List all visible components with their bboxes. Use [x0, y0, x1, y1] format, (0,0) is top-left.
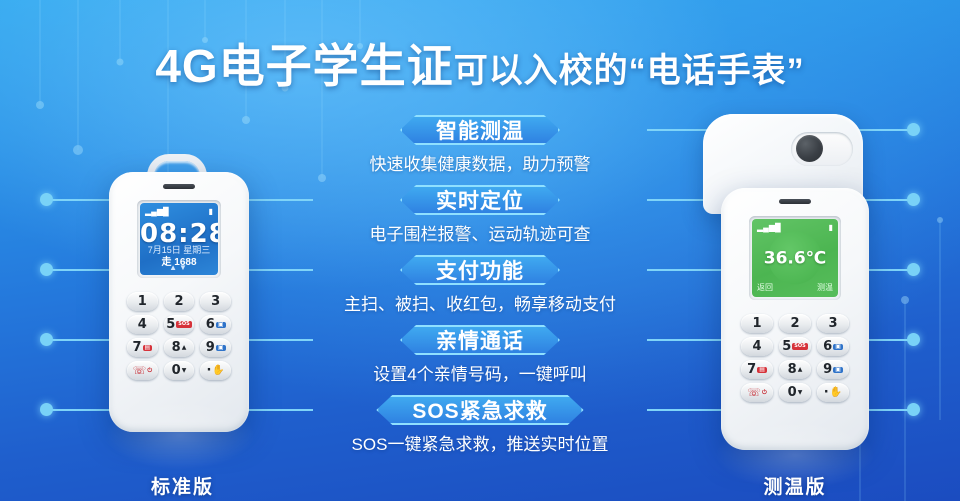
key-label: 3 — [211, 295, 220, 308]
feature-description: 快速收集健康数据，助力预警 — [370, 150, 591, 175]
key-badge: ⏻ — [147, 368, 152, 374]
key-label: 0 — [788, 386, 797, 399]
key-label: 6 — [823, 340, 832, 353]
key-5[interactable]: 5SOS — [779, 337, 811, 356]
page-title: 4G电子学生证可以入校的“电话手表” — [0, 30, 960, 96]
key-badge: ▼ — [798, 390, 803, 396]
feature-badge[interactable]: 实时定位 — [400, 185, 560, 215]
connector-dot-left — [40, 193, 53, 206]
key-star[interactable]: ·✋ — [817, 383, 849, 402]
key-3[interactable]: 3 — [817, 314, 849, 333]
key-label: · — [206, 364, 211, 377]
key-0[interactable]: 0▼ — [164, 361, 195, 380]
connector-dot-left — [40, 333, 53, 346]
connector-dot-right — [907, 333, 920, 346]
key-6[interactable]: 6▣ — [200, 315, 231, 334]
key-power[interactable]: ☏⏻ — [741, 383, 773, 402]
poster-canvas: 4G电子学生证可以入校的“电话手表” 智能测温快速收集健康数据，助力预警实时定位… — [0, 0, 960, 501]
softkey-back[interactable]: 返回 — [757, 282, 773, 293]
earpiece-speaker — [779, 199, 811, 204]
key-5[interactable]: 5SOS — [164, 315, 195, 334]
key-8[interactable]: 8▲ — [779, 360, 811, 379]
device-label-standard: 标准版 — [95, 472, 270, 499]
feature-badge[interactable]: SOS紧急求救 — [376, 395, 583, 425]
earpiece-speaker — [163, 184, 195, 189]
key-label: · — [824, 386, 829, 399]
key-label: 8 — [172, 341, 181, 354]
connector-dot-left — [40, 403, 53, 416]
temperature-value: 36.6℃ — [764, 248, 827, 268]
key-badge: SOS — [176, 321, 191, 328]
key-1[interactable]: 1 — [127, 292, 158, 311]
temperature-sensor-icon — [796, 135, 823, 162]
key-power[interactable]: ☏⏻ — [127, 361, 158, 380]
phone-body-thermometer: ▂▄▆█ ▮ 36.6℃ 返回 测温 12345SOS6▣7▤8▲9▣☏⏻0▼·… — [721, 188, 869, 450]
connector-dot-right — [907, 403, 920, 416]
key-badge: ▤ — [143, 345, 153, 351]
key-1[interactable]: 1 — [741, 314, 773, 333]
key-label: 8 — [788, 363, 797, 376]
feature-description: 设置4个亲情号码，一键呼叫 — [373, 360, 586, 385]
key-badge: ▤ — [757, 367, 767, 373]
key-label: 5 — [782, 340, 791, 353]
connector-dot-left — [40, 263, 53, 276]
connector-dot-right — [907, 193, 920, 206]
key-star[interactable]: ·✋ — [200, 361, 231, 380]
key-label: 1 — [752, 317, 761, 330]
device-thermometer: ▂▄▆█ ▮ 36.6℃ 返回 测温 12345SOS6▣7▤8▲9▣☏⏻0▼·… — [695, 110, 895, 501]
key-4[interactable]: 4 — [741, 337, 773, 356]
device-screen-standard[interactable]: ▂▄▆█ ▮ 08:28 7月15日 星期三 走 1688 ▲▼ — [140, 203, 218, 275]
key-badge: ▣ — [833, 367, 843, 373]
key-label: ☏ — [747, 387, 761, 398]
key-label: 7 — [132, 341, 141, 354]
key-label: 1 — [138, 295, 147, 308]
key-label: 2 — [790, 317, 799, 330]
key-label: 2 — [174, 295, 183, 308]
signal-icon: ▂▄▆█ — [145, 207, 169, 216]
key-badge: ▣ — [833, 344, 843, 350]
phone-body-standard: ▂▄▆█ ▮ 08:28 7月15日 星期三 走 1688 ▲▼ 12345SO… — [109, 172, 249, 432]
screen-nav-arrows: ▲▼ — [140, 263, 218, 272]
key-9[interactable]: 9▣ — [200, 338, 231, 357]
screen-frame-standard: ▂▄▆█ ▮ 08:28 7月15日 星期三 走 1688 ▲▼ — [137, 200, 221, 278]
keypad-thermometer: 12345SOS6▣7▤8▲9▣☏⏻0▼·✋ — [741, 314, 849, 402]
temperature-dial: 36.6℃ — [768, 231, 821, 284]
key-badge: ▣ — [216, 322, 226, 328]
key-label: 6 — [206, 318, 215, 331]
key-3[interactable]: 3 — [200, 292, 231, 311]
title-main: 4G电子学生证 — [155, 40, 453, 92]
key-label: ☏ — [133, 365, 147, 376]
key-badge: ▲ — [798, 367, 803, 373]
key-badge: ▲ — [182, 345, 187, 351]
key-badge: SOS — [792, 343, 807, 350]
key-label: 5 — [166, 318, 175, 331]
key-label: 9 — [823, 363, 832, 376]
key-2[interactable]: 2 — [779, 314, 811, 333]
key-0[interactable]: 0▼ — [779, 383, 811, 402]
title-sub: 可以入校的“电话手表” — [454, 52, 805, 90]
device-label-thermometer: 测温版 — [695, 472, 895, 499]
key-4[interactable]: 4 — [127, 315, 158, 334]
key-badge: ✋ — [212, 366, 224, 376]
feature-badge[interactable]: 亲情通话 — [400, 325, 560, 355]
keypad-standard: 12345SOS6▣7▤8▲9▣☏⏻0▼·✋ — [127, 292, 231, 380]
connector-dot-right — [907, 123, 920, 136]
key-7[interactable]: 7▤ — [741, 360, 773, 379]
softkey-measure[interactable]: 测温 — [817, 282, 833, 293]
key-label: 4 — [138, 318, 147, 331]
key-6[interactable]: 6▣ — [817, 337, 849, 356]
feature-description: 电子围栏报警、运动轨迹可查 — [370, 220, 591, 245]
signal-icon: ▂▄▆█ — [757, 223, 781, 232]
key-label: 4 — [752, 340, 761, 353]
battery-icon: ▮ — [209, 207, 213, 216]
connector-dot-right — [907, 263, 920, 276]
key-9[interactable]: 9▣ — [817, 360, 849, 379]
screen-frame-thermometer: ▂▄▆█ ▮ 36.6℃ 返回 测温 — [749, 216, 841, 300]
feature-description: 主扫、被扫、收红包，畅享移动支付 — [344, 290, 616, 315]
key-8[interactable]: 8▲ — [164, 338, 195, 357]
device-screen-thermometer[interactable]: ▂▄▆█ ▮ 36.6℃ 返回 测温 — [752, 219, 838, 297]
key-label: 0 — [172, 364, 181, 377]
key-7[interactable]: 7▤ — [127, 338, 158, 357]
feature-description: SOS一键紧急求救，推送实时位置 — [352, 430, 609, 455]
key-2[interactable]: 2 — [164, 292, 195, 311]
feature-badge[interactable]: 智能测温 — [400, 115, 560, 145]
battery-icon: ▮ — [829, 223, 833, 232]
device-standard: ▂▄▆█ ▮ 08:28 7月15日 星期三 走 1688 ▲▼ 12345SO… — [95, 150, 270, 501]
key-label: 3 — [828, 317, 837, 330]
key-badge: ✋ — [830, 388, 842, 398]
feature-badge[interactable]: 支付功能 — [400, 255, 560, 285]
key-badge: ▼ — [182, 368, 187, 374]
key-badge: ▣ — [216, 345, 226, 351]
key-badge: ⏻ — [762, 390, 767, 396]
key-label: 7 — [747, 363, 756, 376]
key-label: 9 — [206, 341, 215, 354]
